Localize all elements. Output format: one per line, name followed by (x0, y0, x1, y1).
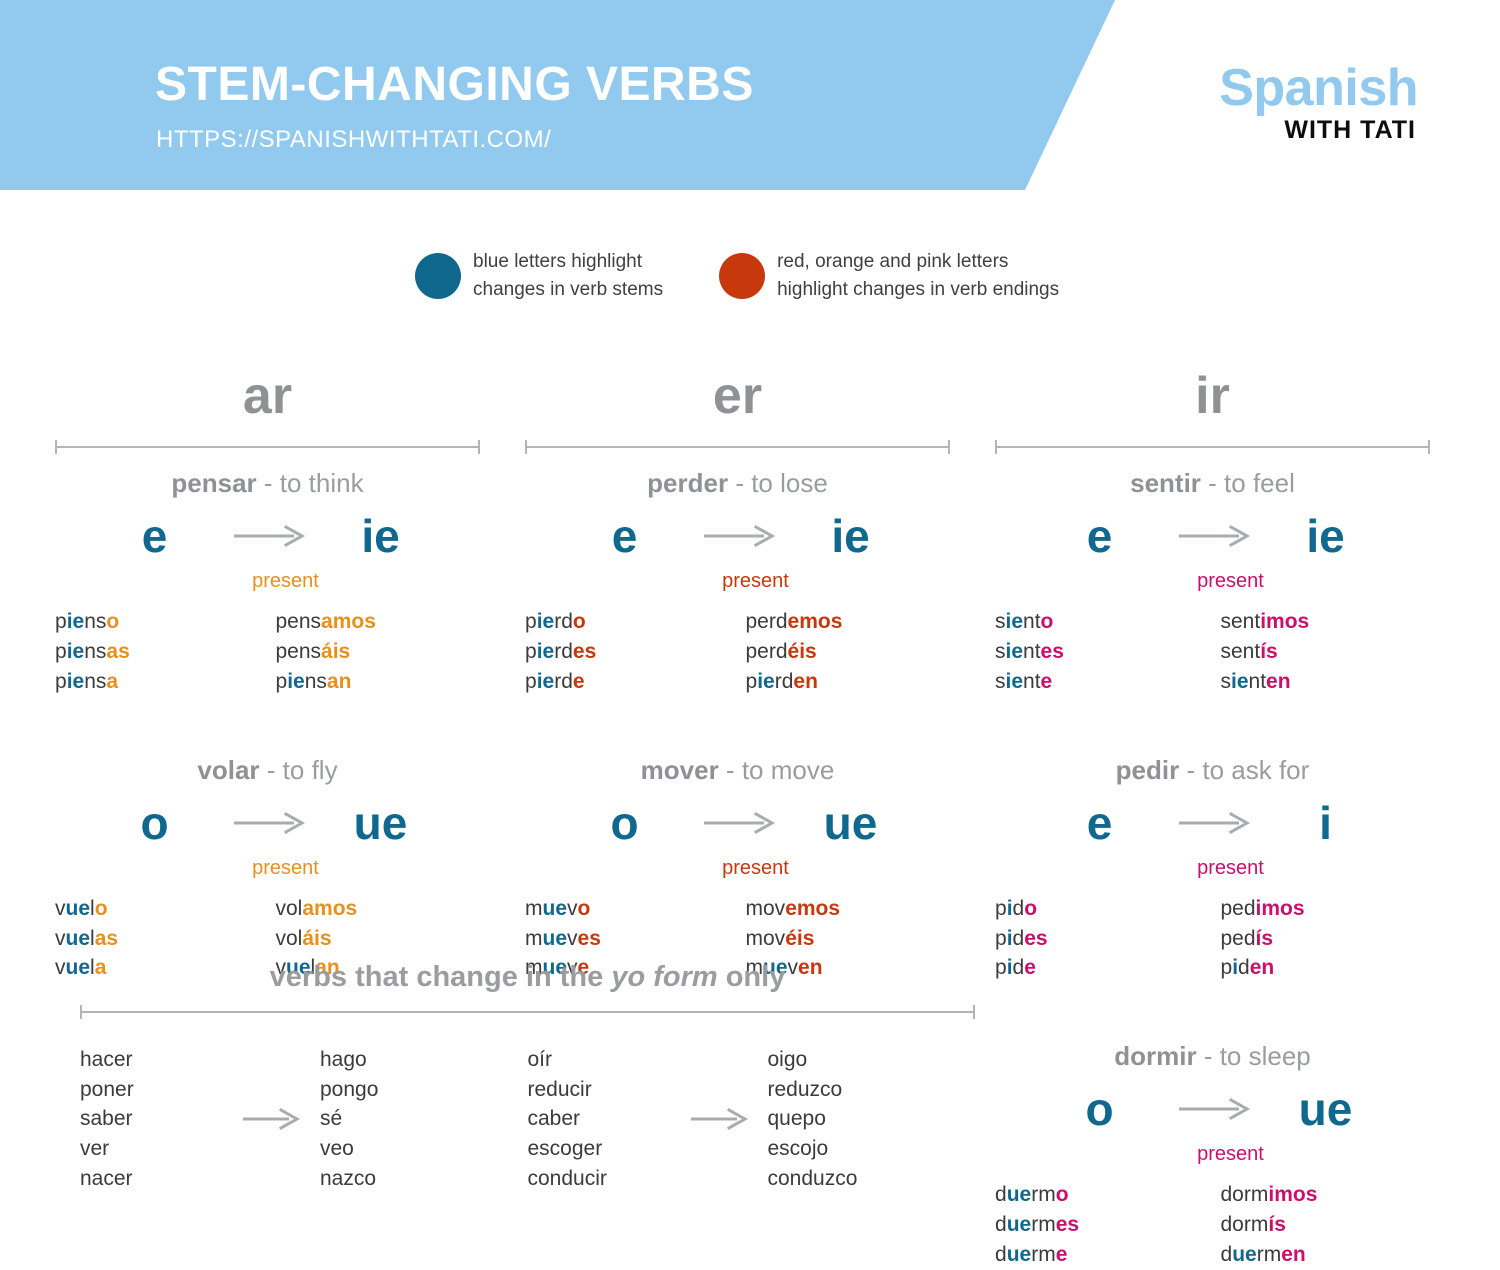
conjugation-form: muevo (525, 894, 738, 924)
legend-label-stems: blue letters highlight changes in verb s… (473, 248, 663, 303)
tense-label-sentir: present (995, 569, 1430, 593)
tense-label-volar: present (55, 856, 480, 880)
list-item: hacer (80, 1045, 220, 1075)
arrow-right-icon (687, 1106, 749, 1132)
verb-title-perder: perder - to lose (525, 468, 950, 499)
tense-label-pedir: present (995, 856, 1430, 880)
list-item: escojo (768, 1134, 928, 1164)
conjugation-column-singular: sientosientessiente (995, 607, 1213, 696)
yo-form-group-1: hacerponersabervernacerhagopongoséveonaz… (80, 1045, 528, 1194)
stem-change-from: o (560, 800, 690, 846)
stem-change-arrow (220, 521, 316, 551)
legend-label-endings: red, orange and pink letters highlight c… (777, 248, 1059, 303)
stem-change-to: ue (316, 800, 446, 846)
list-item: nazco (320, 1164, 480, 1194)
arrow-right-icon (230, 521, 306, 551)
tense-label-mover: present (525, 856, 950, 880)
conjugation-column-plural: pensamospensáispiensan (268, 607, 481, 696)
conjugation-form: sentís (1221, 637, 1431, 667)
tense-label-dormir: present (995, 1142, 1430, 1166)
yo-form-lists: hacerponersabervernacerhagopongoséveonaz… (80, 1045, 975, 1194)
conjugation-form: sentimos (1221, 607, 1431, 637)
conjugation-form: piensa (55, 667, 268, 697)
list-item: oír (528, 1045, 668, 1075)
conjugation-form: sienten (1221, 667, 1431, 697)
stem-change-to: ie (1261, 513, 1391, 559)
list-item: hago (320, 1045, 480, 1075)
conjugation-form: duermen (1221, 1240, 1431, 1270)
conjugation-form: pierdo (525, 607, 738, 637)
conjugation-form: volamos (276, 894, 481, 924)
column-ir: irsentir - to feeleiepresentsientosiente… (995, 370, 1430, 1270)
legend: blue letters highlight changes in verb s… (415, 248, 1059, 303)
stem-change-sentir: eie (995, 505, 1430, 567)
legend-item-endings: red, orange and pink letters highlight c… (719, 248, 1059, 303)
arrow-right-icon (700, 521, 776, 551)
verb-infinitive: mover (641, 755, 719, 785)
yo-title-italic: yo form (611, 961, 717, 993)
verb-title-mover: mover - to move (525, 755, 950, 786)
conjugation-form: pensamos (276, 607, 481, 637)
conjugation-form: pensáis (276, 637, 481, 667)
list-item: pongo (320, 1075, 480, 1105)
list-item: ver (80, 1134, 220, 1164)
stem-change-pensar: eie (55, 505, 480, 567)
verb-title-volar: volar - to fly (55, 755, 480, 786)
stem-change-to: ue (786, 800, 916, 846)
conjugation-column-plural: sentimossentíssienten (1213, 607, 1431, 696)
stem-change-dormir: oue (995, 1078, 1430, 1140)
stem-change-arrow (1165, 1094, 1261, 1124)
verb-translation: - to lose (735, 468, 828, 498)
conjugation-form: sientes (995, 637, 1213, 667)
conjugation-form: movemos (746, 894, 951, 924)
conjugation-form: piensas (55, 637, 268, 667)
stem-change-arrow (690, 521, 786, 551)
list-item: reduzco (768, 1075, 928, 1105)
conjugation-form: movéis (746, 924, 951, 954)
stem-change-mover: oue (525, 792, 950, 854)
stem-change-arrow (1165, 521, 1261, 551)
verb-translation: - to feel (1208, 468, 1295, 498)
verb-translation: - to ask for (1186, 755, 1309, 785)
yo-form-infinitives: hacerponersabervernacer (80, 1045, 220, 1194)
conjugation-form: perdéis (746, 637, 951, 667)
conjugation-form: siento (995, 607, 1213, 637)
tense-label-perder: present (525, 569, 950, 593)
red-circle-icon (719, 253, 765, 299)
verb-translation: - to move (726, 755, 834, 785)
column-heading-er: er (525, 370, 950, 430)
list-item: conduzco (768, 1164, 928, 1194)
verb-infinitive: volar (197, 755, 259, 785)
column-er: erperder - to loseeiepresentpierdopierde… (525, 370, 950, 983)
stem-change-to: ue (1261, 1086, 1391, 1132)
arrow-right-icon (700, 808, 776, 838)
list-item: reducir (528, 1075, 668, 1105)
conjugation-form: pienso (55, 607, 268, 637)
verb-infinitive: perder (647, 468, 728, 498)
blue-circle-icon (415, 253, 461, 299)
conjugation-form: pierden (746, 667, 951, 697)
stem-change-perder: eie (525, 505, 950, 567)
verb-translation: - to think (264, 468, 364, 498)
verb-infinitive: pensar (171, 468, 256, 498)
stem-change-volar: oue (55, 792, 480, 854)
column-bracket-ir (995, 440, 1430, 454)
yo-form-bracket (80, 1005, 975, 1019)
legend-item-stems: blue letters highlight changes in verb s… (415, 248, 663, 303)
conjugation-form: vuelas (55, 924, 268, 954)
conjugation-column-plural: pedimospedíspiden (1213, 894, 1431, 983)
verb-block-perder: perder - to loseeiepresentpierdopierdesp… (525, 468, 950, 697)
conjugation-form: voláis (276, 924, 481, 954)
stem-change-to: ie (316, 513, 446, 559)
conjugation-form: piden (1221, 953, 1431, 983)
verb-block-pedir: pedir - to ask foreipresentpidopidespide… (995, 755, 1430, 984)
conjugation-form: pierde (525, 667, 738, 697)
conjugation-grid-dormir: duermoduermesduermedormimosdormísduermen (995, 1180, 1430, 1269)
yo-form-conjugations: hagopongoséveonazco (320, 1045, 480, 1194)
column-bracket-ar (55, 440, 480, 454)
stem-change-arrow (690, 808, 786, 838)
page-header: STEM-CHANGING VERBS HTTPS://SPANISHWITHT… (0, 0, 1500, 190)
conjugation-form: duermo (995, 1180, 1213, 1210)
stem-change-arrow (1165, 808, 1261, 838)
verb-infinitive: dormir (1114, 1041, 1196, 1071)
conjugation-column-singular: duermoduermesduerme (995, 1180, 1213, 1269)
conjugation-column-singular: piensopiensaspiensa (55, 607, 268, 696)
conjugation-form: mueves (525, 924, 738, 954)
verb-translation: - to fly (267, 755, 338, 785)
list-item: poner (80, 1075, 220, 1105)
conjugation-form: siente (995, 667, 1213, 697)
yo-form-arrow (220, 1106, 320, 1132)
conjugation-form: pides (995, 924, 1213, 954)
conjugation-column-singular: pidopidespide (995, 894, 1213, 983)
brand-logo-sub: WITH TATI (1219, 118, 1416, 143)
yo-form-group-2: oírreducircaberescogerconduciroigoreduzc… (528, 1045, 976, 1194)
conjugation-grid-sentir: sientosientessientesentimossentíssienten (995, 607, 1430, 696)
stem-change-pedir: ei (995, 792, 1430, 854)
conjugation-form: duerme (995, 1240, 1213, 1270)
column-bracket-er (525, 440, 950, 454)
stem-change-to: i (1261, 800, 1391, 846)
yo-form-title: verbs that change in the yo form only (80, 960, 975, 995)
stem-change-from: o (90, 800, 220, 846)
conjugation-form: pido (995, 894, 1213, 924)
conjugation-grid-pedir: pidopidespidepedimospedíspiden (995, 894, 1430, 983)
verb-block-mover: mover - to moveouepresentmuevomuevesmuev… (525, 755, 950, 984)
brand-logo: Spanish WITH TATI (1219, 62, 1418, 143)
verb-block-volar: volar - to flyouepresentvuelovuelasvuela… (55, 755, 480, 984)
list-item: quepo (768, 1104, 928, 1134)
column-ar: arpensar - to thinkeiepresentpiensopiens… (55, 370, 480, 983)
list-item: oigo (768, 1045, 928, 1075)
verb-block-dormir: dormir - to sleepouepresentduermoduermes… (995, 1041, 1430, 1270)
verb-infinitive: pedir (1116, 755, 1180, 785)
yo-title-suffix: only (718, 961, 786, 993)
yo-title-prefix: verbs that change in the (270, 961, 612, 993)
conjugation-form: vuelo (55, 894, 268, 924)
page-title: STEM-CHANGING VERBS (155, 57, 754, 112)
verb-block-sentir: sentir - to feeleiepresentsientosientess… (995, 468, 1430, 697)
verb-block-pensar: pensar - to thinkeiepresentpiensopiensas… (55, 468, 480, 697)
column-heading-ar: ar (55, 370, 480, 430)
tense-label-pensar: present (55, 569, 480, 593)
list-item: veo (320, 1134, 480, 1164)
stem-change-arrow (220, 808, 316, 838)
conjugation-column-plural: perdemosperdéispierden (738, 607, 951, 696)
verb-infinitive: sentir (1130, 468, 1201, 498)
list-item: caber (528, 1104, 668, 1134)
arrow-right-icon (1175, 1094, 1251, 1124)
conjugation-form: duermes (995, 1210, 1213, 1240)
verb-title-dormir: dormir - to sleep (995, 1041, 1430, 1072)
conjugation-form: pierdes (525, 637, 738, 667)
conjugation-grid-perder: pierdopierdespierdeperdemosperdéispierde… (525, 607, 950, 696)
list-item: conducir (528, 1164, 668, 1194)
stem-change-from: o (1035, 1086, 1165, 1132)
arrow-right-icon (230, 808, 306, 838)
conjugation-form: pide (995, 953, 1213, 983)
stem-change-from: e (1035, 800, 1165, 846)
conjugation-grid-pensar: piensopiensaspiensapensamospensáispiensa… (55, 607, 480, 696)
stem-change-from: e (1035, 513, 1165, 559)
stem-change-from: e (90, 513, 220, 559)
stem-change-from: e (560, 513, 690, 559)
conjugation-form: dormimos (1221, 1180, 1431, 1210)
list-item: saber (80, 1104, 220, 1134)
conjugation-form: perdemos (746, 607, 951, 637)
conjugation-form: piensan (276, 667, 481, 697)
verb-title-pensar: pensar - to think (55, 468, 480, 499)
arrow-right-icon (1175, 808, 1251, 838)
list-item: escoger (528, 1134, 668, 1164)
conjugation-form: dormís (1221, 1210, 1431, 1240)
brand-logo-main: Spanish (1219, 62, 1418, 114)
yo-form-section: verbs that change in the yo form only ha… (80, 960, 975, 1194)
stem-change-to: ie (786, 513, 916, 559)
conjugation-column-plural: dormimosdormísduermen (1213, 1180, 1431, 1269)
conjugation-form: pedimos (1221, 894, 1431, 924)
arrow-right-icon (239, 1106, 301, 1132)
verb-title-sentir: sentir - to feel (995, 468, 1430, 499)
yo-form-arrow (668, 1106, 768, 1132)
yo-form-infinitives: oírreducircaberescogerconducir (528, 1045, 668, 1194)
conjugation-form: pedís (1221, 924, 1431, 954)
arrow-right-icon (1175, 521, 1251, 551)
list-item: sé (320, 1104, 480, 1134)
page-url: HTTPS://SPANISHWITHTATI.COM/ (156, 126, 551, 154)
list-item: nacer (80, 1164, 220, 1194)
yo-form-conjugations: oigoreduzcoquepoescojoconduzco (768, 1045, 928, 1194)
conjugation-column-singular: pierdopierdespierde (525, 607, 738, 696)
verb-title-pedir: pedir - to ask for (995, 755, 1430, 786)
column-heading-ir: ir (995, 370, 1430, 430)
verb-translation: - to sleep (1204, 1041, 1311, 1071)
